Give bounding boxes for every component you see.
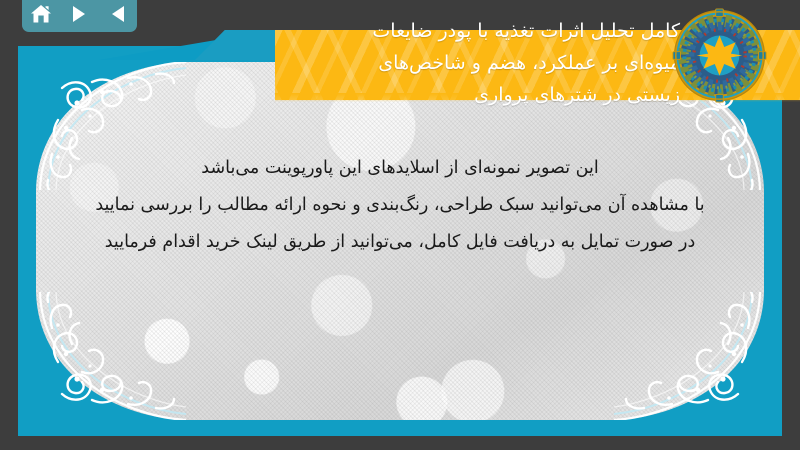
next-slide-button[interactable] bbox=[66, 1, 94, 27]
slide-body-line-2: با مشاهده آن می‌توانید سبک طراحی، رنگ‌بن… bbox=[76, 187, 724, 224]
arabesque-corner-ornament-icon bbox=[36, 292, 186, 420]
home-icon bbox=[30, 4, 52, 24]
triangle-right-icon bbox=[71, 5, 88, 23]
previous-slide-button[interactable] bbox=[104, 1, 132, 27]
triangle-left-icon bbox=[109, 5, 126, 23]
slide-body-text: این تصویر نمونه‌ای از اسلایدهای این پاور… bbox=[76, 150, 724, 261]
slide-title-line-1: کامل تحلیل اثرات تغذیه با پودر ضایعات bbox=[200, 15, 680, 47]
slide-body-line-3: در صورت تمایل به دریافت فایل کامل، می‌تو… bbox=[76, 224, 724, 261]
slide-navigation-bar bbox=[22, 0, 137, 32]
slide-viewer: کامل تحلیل اثرات تغذیه با پودر ضایعات می… bbox=[0, 0, 800, 450]
home-button[interactable] bbox=[27, 1, 55, 27]
slide-frame: این تصویر نمونه‌ای از اسلایدهای این پاور… bbox=[18, 46, 782, 436]
slide-canvas: این تصویر نمونه‌ای از اسلایدهای این پاور… bbox=[36, 62, 764, 420]
arabesque-corner-ornament-icon bbox=[614, 292, 764, 420]
islamic-mandala-medallion-icon bbox=[672, 8, 767, 103]
slide-body-line-1: این تصویر نمونه‌ای از اسلایدهای این پاور… bbox=[76, 150, 724, 187]
